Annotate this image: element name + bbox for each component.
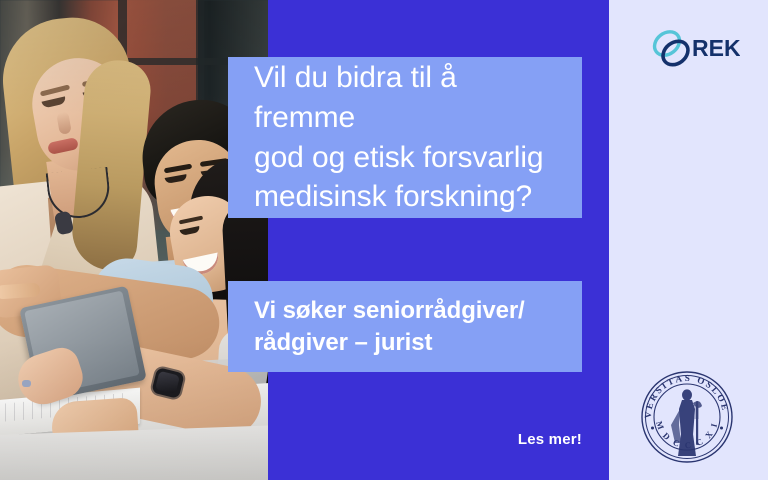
read-more-link[interactable]: Les mer!	[452, 427, 582, 451]
job-title-text: Vi søker seniorrådgiver/ rådgiver – juri…	[254, 295, 556, 357]
read-more-label: Les mer!	[518, 431, 582, 448]
photo-ring	[22, 380, 31, 387]
rek-interlocking-rings-icon	[650, 27, 693, 70]
rek-wordmark: REK	[692, 35, 740, 61]
uio-seal-logo[interactable]: UNIVERSITAS OSLOENSIS M D C C C X I	[635, 365, 739, 469]
job-title-panel: Vi søker seniorrådgiver/ rådgiver – juri…	[228, 281, 582, 372]
headline-panel-inner: Vil du bidra til å fremme god og etisk f…	[228, 57, 582, 218]
recruitment-banner: REK	[0, 0, 768, 480]
headline-text: Vil du bidra til å fremme god og etisk f…	[254, 58, 556, 218]
photo-desk-front	[0, 425, 269, 480]
headline-panel: Vil du bidra til å fremme god og etisk f…	[228, 57, 582, 218]
job-title-panel-inner: Vi søker seniorrådgiver/ rådgiver – juri…	[228, 281, 582, 372]
rek-logo[interactable]: REK	[648, 26, 740, 72]
